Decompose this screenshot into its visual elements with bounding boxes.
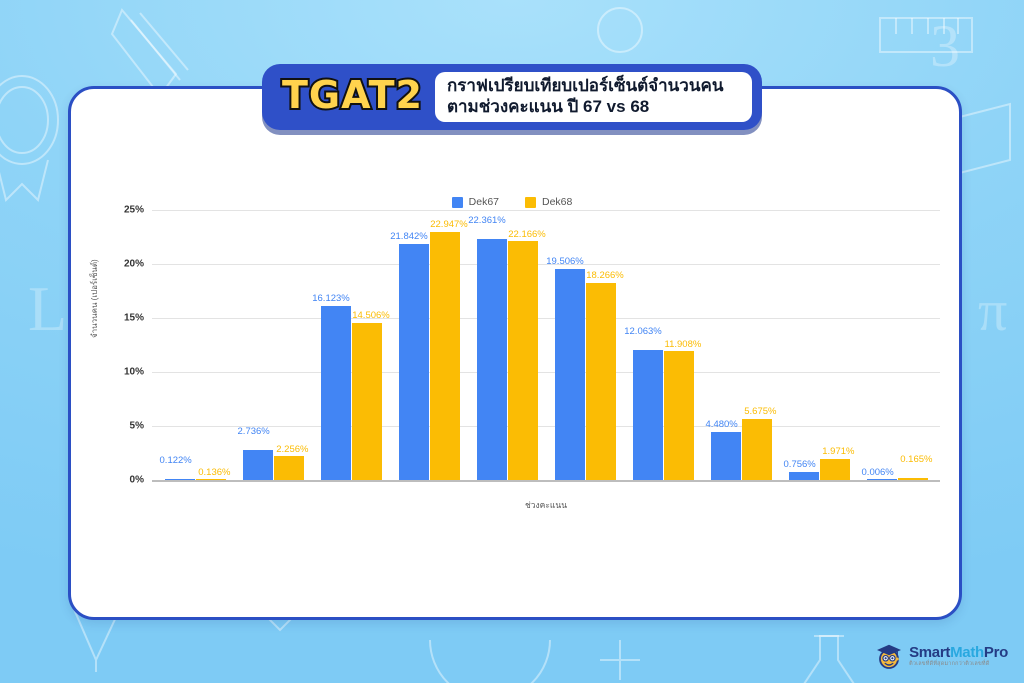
bar-value-label: 2.256% [276, 444, 308, 455]
bar-dek67[interactable] [711, 432, 741, 480]
bar-slot-dek67: 22.361% [477, 210, 507, 480]
bar-slot-dek68: 2.256% [274, 210, 304, 480]
y-axis-tick: 20% [124, 259, 144, 270]
bar-group: 4.480%5.675% [702, 210, 780, 480]
bar-slot-dek68: 5.675% [742, 210, 772, 480]
bar-group: 19.506%18.266% [546, 210, 624, 480]
brand-logo: SmartMathPro ติวเลขที่ดีที่สุดมากกว่าติว… [874, 641, 1008, 671]
chart-legend: Dek67 Dek68 [0, 196, 1024, 208]
bar-group: 0.756%1.971% [780, 210, 858, 480]
bar-value-label: 1.971% [822, 446, 854, 457]
bar-value-label: 14.506% [352, 310, 390, 321]
svg-text:3: 3 [930, 13, 960, 79]
bar-group: 0.122%0.136% [156, 210, 234, 480]
bar-slot-dek67: 16.123% [321, 210, 351, 480]
bar-value-label: 16.123% [312, 293, 350, 304]
plot-area: 0.122%0.136%2.736%2.256%16.123%14.506%21… [152, 210, 940, 480]
y-axis-tick: 5% [130, 421, 144, 432]
svg-text:π: π [978, 278, 1007, 343]
bar-dek68[interactable] [820, 459, 850, 480]
bar-slot-dek68: 0.165% [898, 210, 928, 480]
bar-slot-dek68: 0.136% [196, 210, 226, 480]
bar-slot-dek67: 0.122% [165, 210, 195, 480]
bar-dek67[interactable] [477, 239, 507, 480]
y-axis-tick: 15% [124, 313, 144, 324]
bar-value-label: 12.063% [624, 326, 662, 337]
bar-slot-dek68: 14.506% [352, 210, 382, 480]
bar-dek68[interactable] [430, 232, 460, 480]
bar-slot-dek67: 0.006% [867, 210, 897, 480]
bar-slot-dek67: 2.736% [243, 210, 273, 480]
bar-value-label: 22.361% [468, 215, 506, 226]
bar-slot-dek67: 21.842% [399, 210, 429, 480]
legend-swatch-dek67 [452, 197, 463, 208]
bar-dek67[interactable] [399, 244, 429, 480]
bar-value-label: 0.136% [198, 467, 230, 478]
svg-text:L: L [28, 273, 67, 344]
logo-text: SmartMathPro ติวเลขที่ดีที่สุดมากกว่าติว… [909, 645, 1008, 668]
bar-value-label: 0.756% [784, 459, 816, 470]
title-banner: TGAT2 กราฟเปรียบเทียบเปอร์เซ็นต์จำนวนคน … [262, 64, 762, 130]
bar-group: 12.063%11.908% [624, 210, 702, 480]
bar-value-label: 11.908% [665, 339, 702, 350]
bar-slot-dek68: 11.908% [664, 210, 694, 480]
bar-group: 16.123%14.506% [312, 210, 390, 480]
bar-value-label: 0.122% [160, 455, 192, 466]
bar-slot-dek68: 22.166% [508, 210, 538, 480]
bar-group: 21.842%22.947% [390, 210, 468, 480]
y-axis-tick: 0% [130, 475, 144, 486]
bar-dek67[interactable] [243, 450, 273, 480]
axis-baseline [152, 480, 940, 482]
bar-group: 0.006%0.165% [858, 210, 936, 480]
bar-groups: 0.122%0.136%2.736%2.256%16.123%14.506%21… [152, 210, 940, 480]
page-title-line-2: ตามช่วงคะแนน ปี 67 vs 68 [447, 97, 740, 118]
bar-value-label: 4.480% [706, 419, 738, 430]
legend-label-dek67: Dek67 [469, 196, 499, 208]
bar-dek67[interactable] [165, 479, 195, 481]
bar-value-label: 0.165% [900, 454, 932, 465]
bar-dek67[interactable] [867, 479, 897, 481]
legend-item-dek67[interactable]: Dek67 [452, 196, 499, 208]
bar-slot-dek67: 0.756% [789, 210, 819, 480]
bar-value-label: 5.675% [744, 406, 776, 417]
bar-value-label: 19.506% [546, 256, 584, 267]
bar-dek67[interactable] [633, 350, 663, 480]
logo-wordmark: SmartMathPro [909, 645, 1008, 660]
exam-badge: TGAT2 [272, 76, 435, 118]
y-axis-tick: 10% [124, 367, 144, 378]
y-axis-tick: 25% [124, 205, 144, 216]
bar-dek68[interactable] [352, 323, 382, 480]
logo-part-pro: Pro [984, 644, 1008, 661]
x-axis-title: ช่วงคะแนน [152, 498, 940, 512]
bar-dek67[interactable] [789, 472, 819, 480]
bar-value-label: 0.006% [862, 467, 894, 478]
bar-dek67[interactable] [321, 306, 351, 480]
y-axis-title: จำนวนคน (เปอร์เซ็นต์) [88, 259, 101, 338]
bar-dek68[interactable] [742, 419, 772, 480]
graduation-cap-mascot-icon [874, 641, 904, 671]
page-title-line-1: กราฟเปรียบเทียบเปอร์เซ็นต์จำนวนคน [447, 76, 740, 97]
bar-slot-dek68: 22.947% [430, 210, 460, 480]
y-axis-tick-labels: 25%20%15%10%5%0% [104, 210, 148, 480]
legend-label-dek68: Dek68 [542, 196, 572, 208]
title-text-box: กราฟเปรียบเทียบเปอร์เซ็นต์จำนวนคน ตามช่ว… [435, 72, 752, 122]
bar-dek68[interactable] [508, 241, 538, 480]
bar-group: 2.736%2.256% [234, 210, 312, 480]
bar-value-label: 18.266% [586, 270, 624, 281]
bar-slot-dek68: 18.266% [586, 210, 616, 480]
bar-slot-dek67: 19.506% [555, 210, 585, 480]
bar-group: 22.361%22.166% [468, 210, 546, 480]
bar-dek67[interactable] [555, 269, 585, 480]
logo-part-smart: Smart [909, 644, 950, 661]
bar-slot-dek67: 12.063% [633, 210, 663, 480]
bar-dek68[interactable] [664, 351, 694, 480]
bar-value-label: 2.736% [238, 426, 270, 437]
bar-value-label: 22.166% [508, 229, 546, 240]
logo-tagline: ติวเลขที่ดีที่สุดมากกว่าติวเลขที่ดี [909, 662, 1008, 668]
bar-dek68[interactable] [898, 478, 928, 480]
legend-item-dek68[interactable]: Dek68 [525, 196, 572, 208]
bar-chart: จำนวนคน (เปอร์เซ็นต์) 25%20%15%10%5%0% 0… [90, 210, 940, 510]
logo-part-math: Math [950, 644, 984, 661]
bar-slot-dek67: 4.480% [711, 210, 741, 480]
bar-dek68[interactable] [196, 479, 226, 481]
bar-dek68[interactable] [586, 283, 616, 480]
bar-dek68[interactable] [274, 456, 304, 480]
bar-slot-dek68: 1.971% [820, 210, 850, 480]
legend-swatch-dek68 [525, 197, 536, 208]
bar-value-label: 22.947% [430, 219, 468, 230]
bar-value-label: 21.842% [390, 231, 428, 242]
